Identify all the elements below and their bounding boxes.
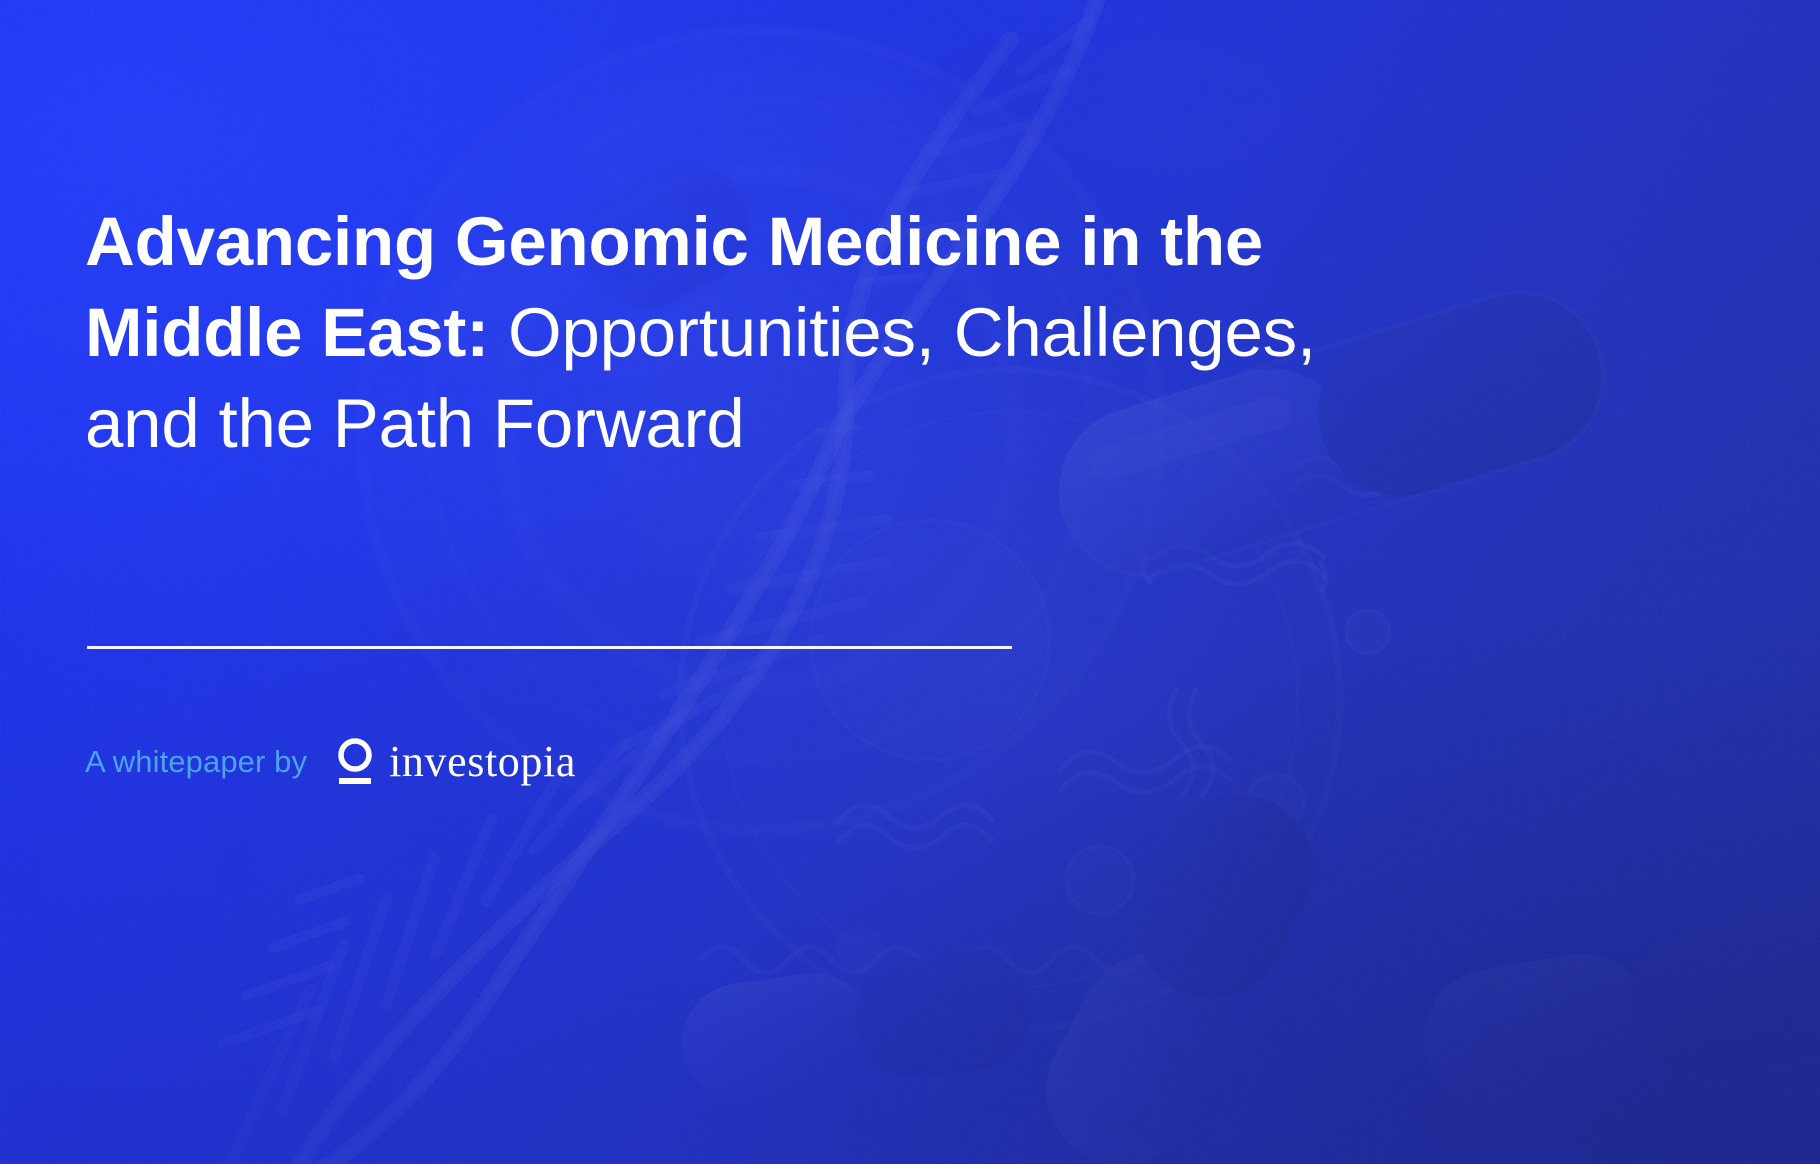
investopia-logo[interactable]: investopia [334, 736, 576, 788]
byline-prefix: A whitepaper by [85, 744, 307, 780]
title-bold-segment-2: Middle East: [85, 294, 489, 371]
byline: A whitepaper by investopia [85, 736, 576, 788]
cover-content: Advancing Genomic Medicine in the Middle… [85, 0, 1735, 1164]
title-bold-segment-1: Advancing Genomic Medicine in the [85, 203, 1263, 280]
investopia-wordmark: investopia [389, 740, 576, 784]
page-title: Advancing Genomic Medicine in the Middle… [85, 196, 1425, 469]
divider-rule [87, 646, 1012, 649]
whitepaper-cover: Advancing Genomic Medicine in the Middle… [0, 0, 1820, 1164]
investopia-circle-bar-icon [334, 736, 376, 788]
